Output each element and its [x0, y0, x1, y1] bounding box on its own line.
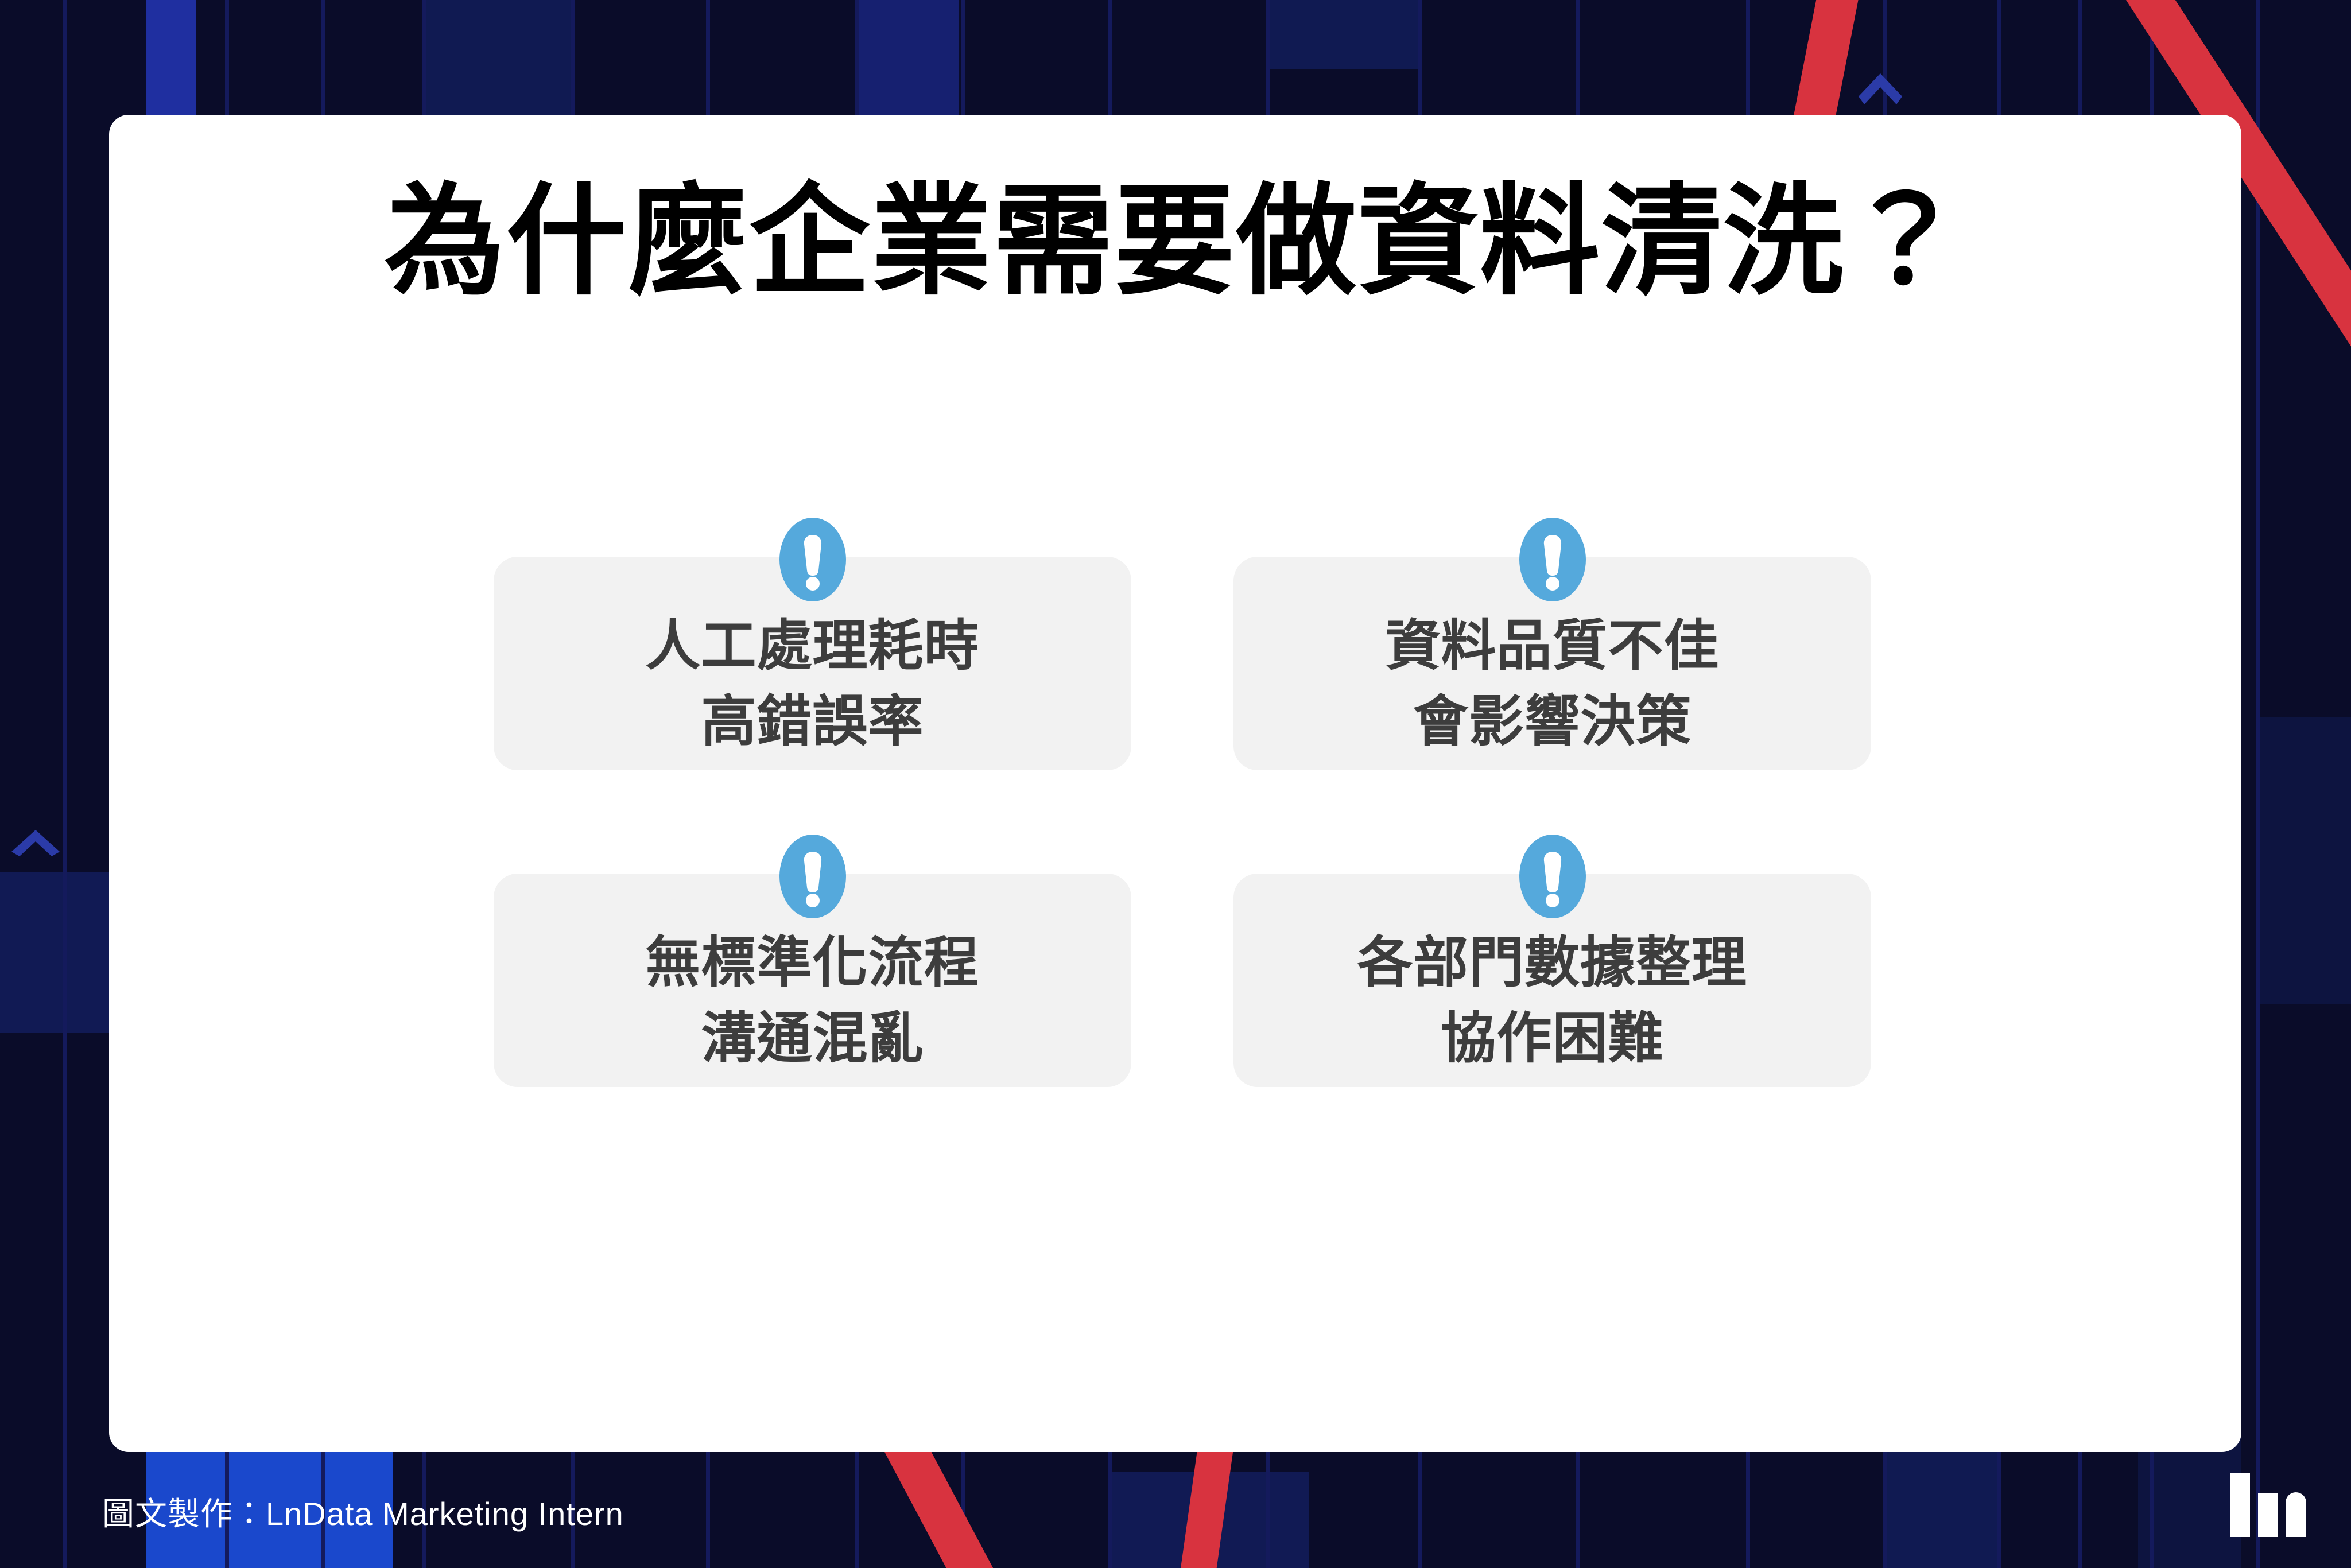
- issue-card-line-2: 會影響決策: [1413, 684, 1692, 760]
- issue-card-line-1: 各部門數據整理: [1357, 925, 1747, 1001]
- issue-card-line-1: 人工處理耗時: [646, 608, 980, 684]
- issue-card[interactable]: 人工處理耗時 高錯誤率: [494, 517, 1131, 770]
- bg-vertical-line: [63, 0, 67, 1568]
- bg-column-block: [2259, 717, 2351, 1004]
- issue-card[interactable]: 資料品質不佳 會影響決策: [1233, 517, 1871, 770]
- exclamation-icon: [777, 833, 848, 919]
- bg-column-block: [426, 0, 571, 122]
- issue-card-line-1: 資料品質不佳: [1386, 608, 1720, 684]
- exclamation-icon: [777, 517, 848, 603]
- exclamation-icon: [1517, 833, 1588, 919]
- issue-card[interactable]: 無標準化流程 溝通混亂: [494, 833, 1131, 1087]
- issue-card-grid: 人工處理耗時 高錯誤率 資料品質不佳 會影響決策: [494, 517, 1871, 1087]
- bg-vertical-line: [2256, 0, 2260, 1568]
- footer-credit: 圖文製作：LnData Marketing Intern: [102, 1488, 624, 1535]
- bg-column-block: [1268, 0, 1418, 69]
- page-title: 為什麼企業需要做資料清洗？: [109, 177, 2241, 307]
- lndata-bars-logo: [2230, 1473, 2317, 1537]
- issue-card-line-2: 高錯誤率: [701, 684, 924, 760]
- issue-card-line-2: 溝通混亂: [701, 1001, 924, 1077]
- issue-card[interactable]: 各部門數據整理 協作困難: [1233, 833, 1871, 1087]
- chevron-up-icon: [1854, 69, 1907, 104]
- exclamation-icon: [1517, 517, 1588, 603]
- chevron-up-icon: [8, 826, 63, 856]
- issue-card-line-1: 無標準化流程: [646, 925, 980, 1001]
- issue-card-line-2: 協作困難: [1441, 1001, 1664, 1077]
- content-panel: 為什麼企業需要做資料清洗？ 人工處理耗時 高錯誤率: [109, 115, 2241, 1452]
- slide-canvas: 為什麼企業需要做資料清洗？ 人工處理耗時 高錯誤率: [0, 0, 2351, 1568]
